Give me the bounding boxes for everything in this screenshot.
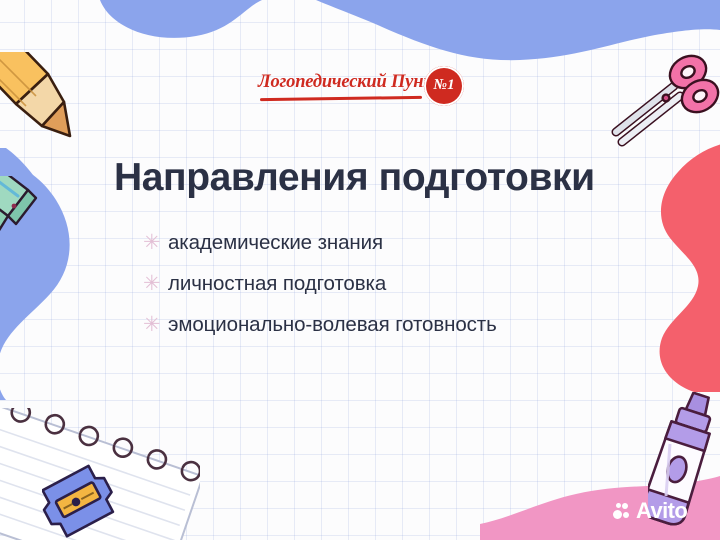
list-item: ✳ личностная подготовка (140, 263, 660, 304)
brand-logo-underline (260, 96, 422, 101)
list-item-label: личностная подготовка (168, 272, 386, 296)
asterisk-icon: ✳ (140, 314, 168, 335)
list-item: ✳ эмоционально-волевая готовность (140, 304, 660, 345)
avito-watermark: Avito (613, 500, 687, 522)
bullet-list: ✳ академические знания ✳ личностная подг… (140, 222, 660, 345)
slide-canvas: Логопедический Пункт №1 Направления подг… (0, 0, 720, 540)
page-title: Направления подготовки (114, 156, 595, 200)
avito-logo-icon (613, 502, 632, 521)
asterisk-icon: ✳ (140, 232, 168, 253)
asterisk-icon: ✳ (140, 273, 168, 294)
list-item: ✳ академические знания (140, 222, 660, 263)
brand-logo[interactable]: Логопедический Пункт №1 (258, 66, 458, 108)
list-item-label: академические знания (168, 231, 383, 255)
brand-logo-badge-text: №1 (424, 66, 464, 106)
brand-logo-text: Логопедический Пункт (258, 72, 446, 93)
avito-watermark-text: Avito (636, 500, 687, 522)
brand-logo-badge: №1 (424, 66, 464, 106)
list-item-label: эмоционально-волевая готовность (168, 313, 497, 337)
